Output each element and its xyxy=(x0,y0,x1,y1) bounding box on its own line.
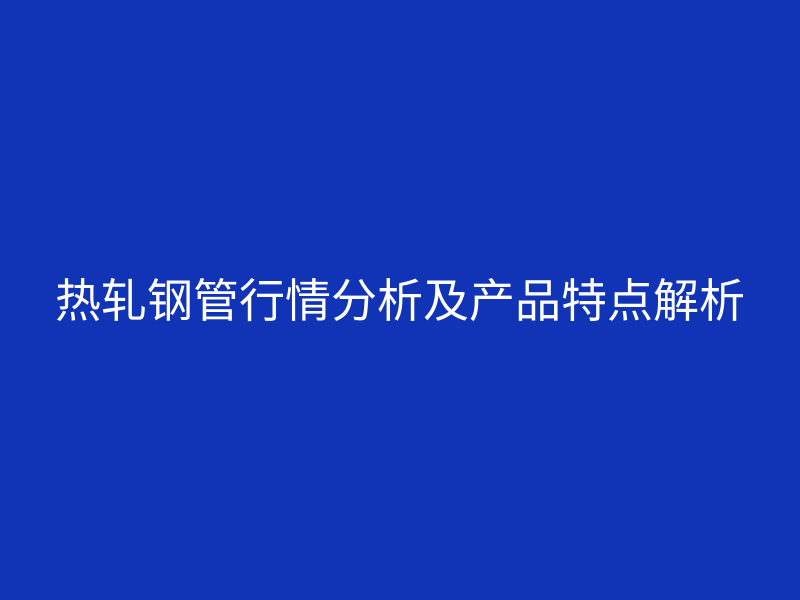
title-card: 热轧钢管行情分析及产品特点解析 xyxy=(0,0,800,600)
page-title: 热轧钢管行情分析及产品特点解析 xyxy=(0,276,800,327)
headline-container: 热轧钢管行情分析及产品特点解析 xyxy=(0,0,800,600)
